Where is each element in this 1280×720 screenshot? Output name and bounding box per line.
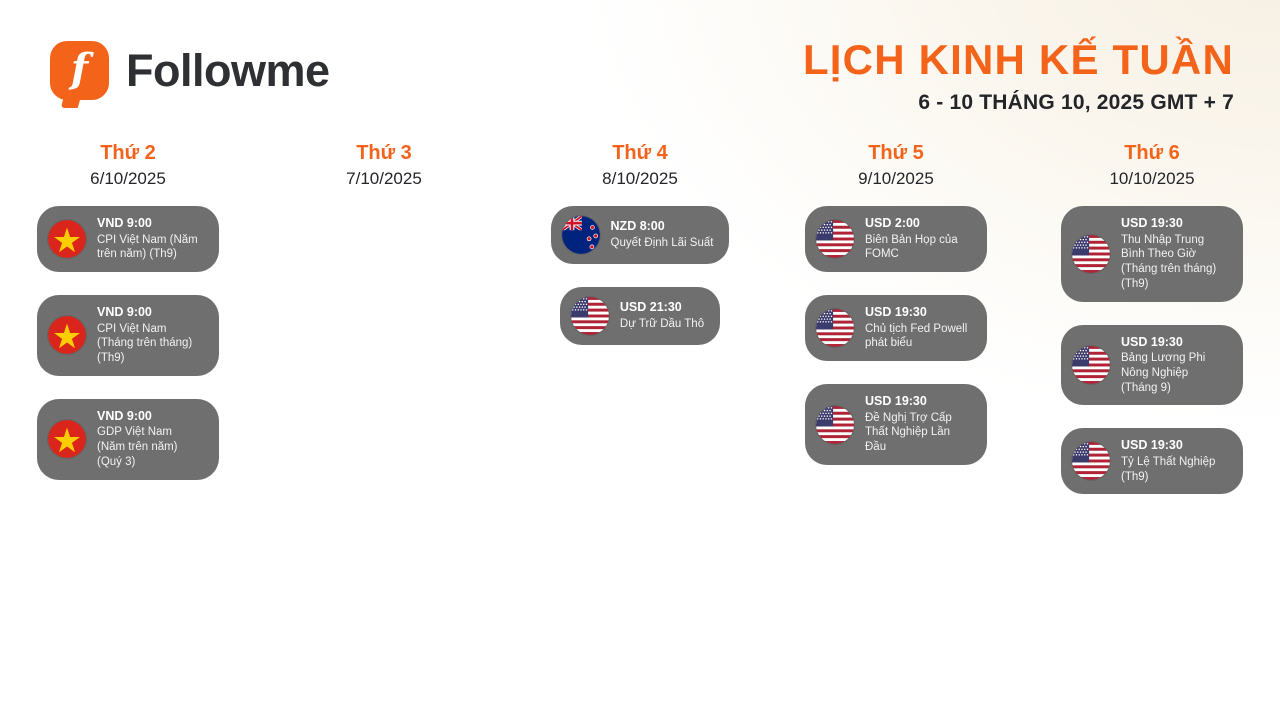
event-card-body: USD 19:30Thu Nhập Trung Bình Theo Giờ (T… <box>1121 216 1227 292</box>
vietnam-flag-icon <box>48 316 86 354</box>
day-date: 7/10/2025 <box>346 169 422 189</box>
day-column: Thứ 37/10/2025 <box>256 142 512 494</box>
day-column: Thứ 59/10/2025USD 2:00Biên Bản Họp của F… <box>768 142 1024 494</box>
week-columns: Thứ 26/10/2025VND 9:00CPI Việt Nam (Năm … <box>0 142 1280 494</box>
event-currency-time: USD 2:00 <box>865 216 971 232</box>
event-list: NZD 8:00Quyết Định Lãi SuấtUSD 21:30Dự T… <box>512 206 768 345</box>
event-currency-time: USD 19:30 <box>1121 216 1227 232</box>
day-name: Thứ 4 <box>612 142 668 165</box>
event-currency-time: USD 21:30 <box>620 300 704 316</box>
usa-flag-icon <box>1072 235 1110 273</box>
day-name: Thứ 2 <box>100 142 156 165</box>
economic-calendar-page: f Followme LỊCH KINH KẾ TUẦN 6 - 10 THÁN… <box>0 0 1280 720</box>
day-name: Thứ 5 <box>868 142 924 165</box>
event-card-body: VND 9:00GDP Việt Nam (Năm trên năm) (Quý… <box>97 409 203 470</box>
event-card[interactable]: VND 9:00CPI Việt Nam (Tháng trên tháng) … <box>37 295 219 376</box>
event-card[interactable]: NZD 8:00Quyết Định Lãi Suất <box>551 206 730 264</box>
title-block: LỊCH KINH KẾ TUẦN 6 - 10 THÁNG 10, 2025 … <box>803 38 1234 115</box>
event-description: CPI Việt Nam (Tháng trên tháng) (Th9) <box>97 322 203 366</box>
new-zealand-flag-icon <box>562 216 600 254</box>
event-card-body: USD 19:30Bảng Lương Phi Nông Nghiệp (Thá… <box>1121 335 1227 396</box>
day-name: Thứ 6 <box>1124 142 1180 165</box>
event-list: VND 9:00CPI Việt Nam (Năm trên năm) (Th9… <box>0 206 256 480</box>
usa-flag-icon <box>816 309 854 347</box>
event-description: Đề Nghị Trợ Cấp Thất Nghiệp Lần Đầu <box>865 411 971 455</box>
page-subtitle: 6 - 10 THÁNG 10, 2025 GMT + 7 <box>803 91 1234 115</box>
followme-speech-bubble-f-icon: f <box>50 41 109 100</box>
event-list: USD 19:30Thu Nhập Trung Bình Theo Giờ (T… <box>1024 206 1280 494</box>
event-card[interactable]: USD 19:30Chủ tịch Fed Powell phát biểu <box>805 295 987 361</box>
event-list: USD 2:00Biên Bản Họp của FOMCUSD 19:30Ch… <box>768 206 1024 465</box>
day-date: 9/10/2025 <box>858 169 934 189</box>
event-currency-time: VND 9:00 <box>97 305 203 321</box>
event-description: Thu Nhập Trung Bình Theo Giờ (Tháng trên… <box>1121 233 1227 292</box>
event-card-body: VND 9:00CPI Việt Nam (Năm trên năm) (Th9… <box>97 216 203 262</box>
day-column: Thứ 610/10/2025USD 19:30Thu Nhập Trung B… <box>1024 142 1280 494</box>
event-description: Biên Bản Họp của FOMC <box>865 233 971 262</box>
page-title: LỊCH KINH KẾ TUẦN <box>803 38 1234 82</box>
usa-flag-icon <box>571 297 609 335</box>
event-card[interactable]: USD 19:30Đề Nghị Trợ Cấp Thất Nghiệp Lần… <box>805 384 987 465</box>
event-description: Quyết Định Lãi Suất <box>611 236 714 251</box>
event-card[interactable]: USD 19:30Bảng Lương Phi Nông Nghiệp (Thá… <box>1061 325 1243 406</box>
event-card-body: USD 19:30Chủ tịch Fed Powell phát biểu <box>865 305 971 351</box>
event-card-body: USD 19:30Đề Nghị Trợ Cấp Thất Nghiệp Lần… <box>865 394 971 455</box>
usa-flag-icon <box>1072 346 1110 384</box>
day-name: Thứ 3 <box>356 142 412 165</box>
event-currency-time: USD 19:30 <box>865 394 971 410</box>
usa-flag-icon <box>1072 442 1110 480</box>
event-currency-time: USD 19:30 <box>1121 438 1227 454</box>
event-description: Chủ tịch Fed Powell phát biểu <box>865 322 971 351</box>
event-currency-time: USD 19:30 <box>1121 335 1227 351</box>
event-card[interactable]: USD 19:30Tỷ Lệ Thất Nghiệp (Th9) <box>1061 428 1243 494</box>
vietnam-flag-icon <box>48 220 86 258</box>
usa-flag-icon <box>816 220 854 258</box>
event-card-body: USD 21:30Dự Trữ Dầu Thô <box>620 300 704 331</box>
event-card[interactable]: VND 9:00GDP Việt Nam (Năm trên năm) (Quý… <box>37 399 219 480</box>
event-card[interactable]: USD 21:30Dự Trữ Dầu Thô <box>560 287 720 345</box>
event-card-body: NZD 8:00Quyết Định Lãi Suất <box>611 219 714 250</box>
event-currency-time: VND 9:00 <box>97 409 203 425</box>
day-column: Thứ 26/10/2025VND 9:00CPI Việt Nam (Năm … <box>0 142 256 494</box>
usa-flag-icon <box>816 406 854 444</box>
event-card-body: VND 9:00CPI Việt Nam (Tháng trên tháng) … <box>97 305 203 366</box>
event-description: Tỷ Lệ Thất Nghiệp (Th9) <box>1121 455 1227 484</box>
logo-letter: f <box>50 41 109 100</box>
event-currency-time: NZD 8:00 <box>611 219 714 235</box>
day-date: 6/10/2025 <box>90 169 166 189</box>
event-card[interactable]: USD 2:00Biên Bản Họp của FOMC <box>805 206 987 272</box>
event-description: GDP Việt Nam (Năm trên năm) (Quý 3) <box>97 425 203 469</box>
brand-logo: f Followme <box>50 41 330 100</box>
day-column: Thứ 48/10/2025NZD 8:00Quyết Định Lãi Suấ… <box>512 142 768 494</box>
vietnam-flag-icon <box>48 420 86 458</box>
event-card[interactable]: VND 9:00CPI Việt Nam (Năm trên năm) (Th9… <box>37 206 219 272</box>
event-currency-time: VND 9:00 <box>97 216 203 232</box>
day-date: 10/10/2025 <box>1109 169 1194 189</box>
event-card-body: USD 19:30Tỷ Lệ Thất Nghiệp (Th9) <box>1121 438 1227 484</box>
event-description: Bảng Lương Phi Nông Nghiệp (Tháng 9) <box>1121 351 1227 395</box>
event-description: Dự Trữ Dầu Thô <box>620 317 704 332</box>
event-description: CPI Việt Nam (Năm trên năm) (Th9) <box>97 233 203 262</box>
brand-name: Followme <box>126 45 330 97</box>
event-currency-time: USD 19:30 <box>865 305 971 321</box>
event-card[interactable]: USD 19:30Thu Nhập Trung Bình Theo Giờ (T… <box>1061 206 1243 302</box>
day-date: 8/10/2025 <box>602 169 678 189</box>
event-card-body: USD 2:00Biên Bản Họp của FOMC <box>865 216 971 262</box>
